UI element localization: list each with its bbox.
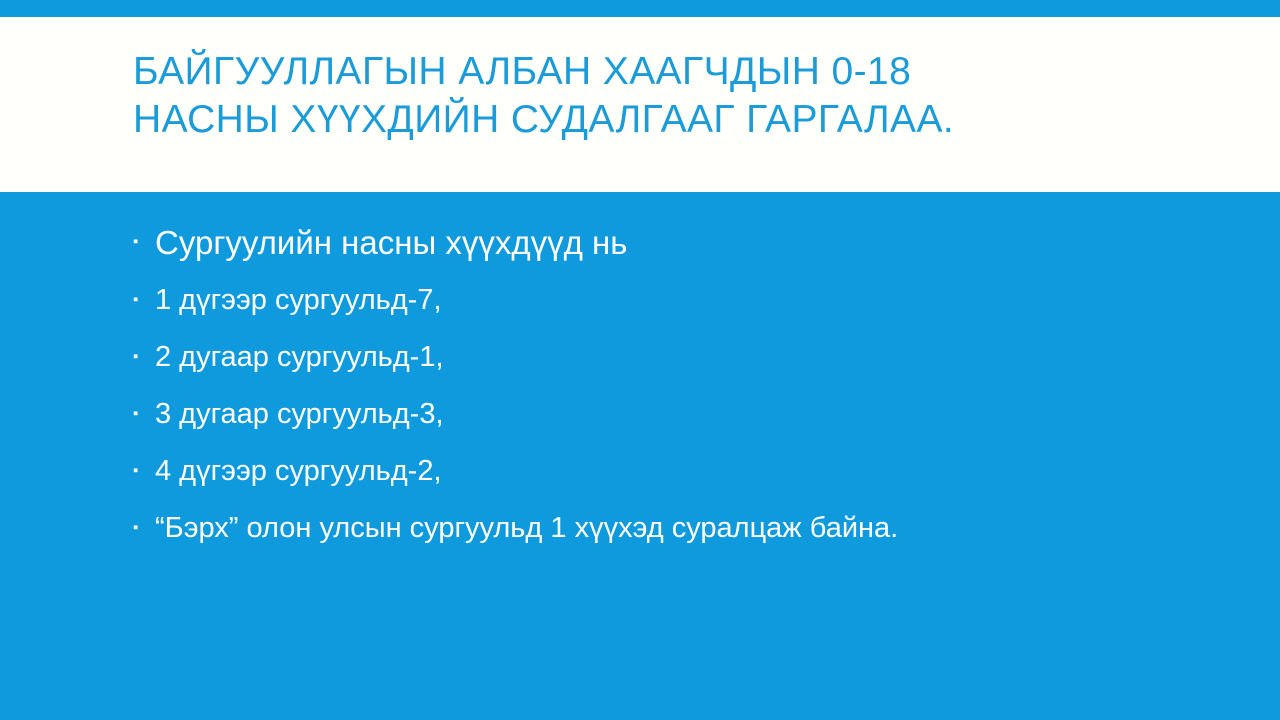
bullet-square-icon: ▪: [133, 234, 155, 249]
list-item: ▪ 2 дугаар сургуульд-1,: [133, 329, 1213, 386]
list-item-label: 2 дугаар сургуульд-1,: [155, 341, 444, 374]
list-item: ▪ 3 дугаар сургуульд-3,: [133, 386, 1213, 443]
list-item: ▪ Сургуулийн насны хүүхдүүд нь: [133, 214, 1213, 272]
slide-title-line-2: НАСНЫ ХҮҮХДИЙН СУДАЛГААГ ГАРГАЛАА.: [133, 96, 1143, 144]
list-item-label: 3 дугаар сургуульд-3,: [155, 398, 444, 431]
bullet-square-icon: ▪: [133, 463, 155, 478]
top-accent-bar: [0, 0, 1280, 17]
list-item: ▪ 4 дүгээр сургуульд-2,: [133, 443, 1213, 500]
list-item-label: Сургуулийн насны хүүхдүүд нь: [155, 224, 627, 262]
bullet-square-icon: ▪: [133, 292, 155, 307]
list-item-label: 1 дүгээр сургуульд-7,: [155, 284, 442, 317]
slide-title: БАЙГУУЛЛАГЫН АЛБАН ХААГЧДЫН 0-18 НАСНЫ Х…: [133, 48, 1143, 144]
slide-title-line-1: БАЙГУУЛЛАГЫН АЛБАН ХААГЧДЫН 0-18: [133, 48, 1143, 96]
bullet-square-icon: ▪: [133, 520, 155, 535]
bullet-square-icon: ▪: [133, 349, 155, 364]
list-item-label: “Бэрх” олон улсын сургуульд 1 хүүхэд сур…: [155, 512, 898, 545]
presentation-slide: БАЙГУУЛЛАГЫН АЛБАН ХААГЧДЫН 0-18 НАСНЫ Х…: [0, 0, 1280, 720]
slide-body: ▪ Сургуулийн насны хүүхдүүд нь ▪ 1 дүгээ…: [0, 192, 1280, 720]
list-item: ▪ “Бэрх” олон улсын сургуульд 1 хүүхэд с…: [133, 500, 1213, 557]
list-item: ▪ 1 дүгээр сургуульд-7,: [133, 272, 1213, 329]
list-item-label: 4 дүгээр сургуульд-2,: [155, 455, 442, 488]
bullet-square-icon: ▪: [133, 406, 155, 421]
bullet-list: ▪ Сургуулийн насны хүүхдүүд нь ▪ 1 дүгээ…: [133, 214, 1213, 557]
